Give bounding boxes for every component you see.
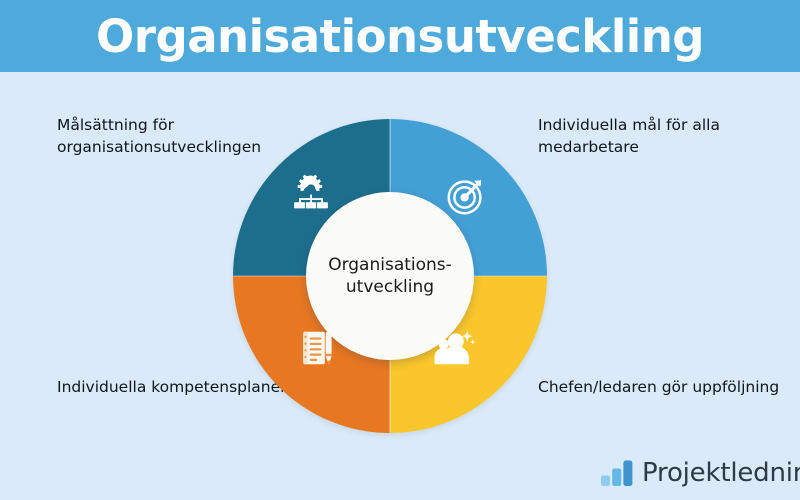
notepad-pen-icon: [297, 325, 343, 371]
donut-diagram: Organisations- utveckling: [233, 119, 547, 433]
brand-name: Projektledning: [642, 460, 800, 486]
segment-label-top-right: Individuella mål för alla medarbetare: [538, 114, 788, 159]
page-title: Organisationsutveckling: [0, 0, 800, 72]
people-add-icon: [430, 325, 476, 371]
target-arrow-icon: [443, 173, 489, 219]
infographic-page: Organisationsutveckling Målsättning för …: [0, 0, 800, 500]
donut-center-label: Organisations- utveckling: [318, 254, 462, 299]
bar-chart-icon: [601, 460, 635, 486]
segment-label-bottom-right: Chefen/ledaren gör uppföljning: [538, 376, 788, 398]
brand-logo[interactable]: Projektledning: [601, 455, 800, 491]
org-chart-gear-icon: [288, 171, 334, 217]
